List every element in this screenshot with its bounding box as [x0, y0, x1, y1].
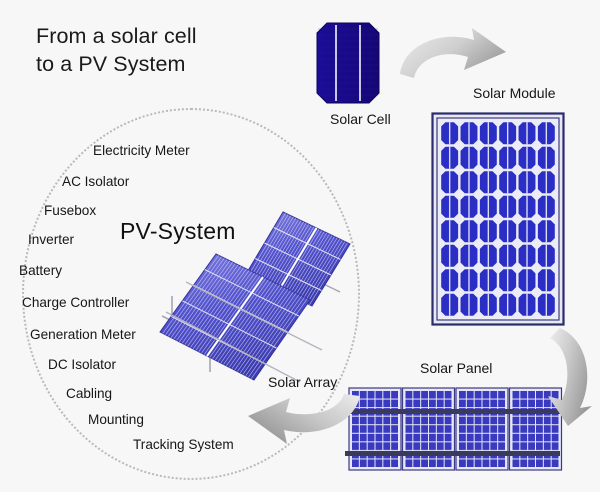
- panel-cell: [368, 425, 375, 433]
- panel-cell: [391, 391, 398, 399]
- panel-cell: [459, 400, 466, 408]
- panel-cell: [475, 417, 482, 425]
- panel-cell: [490, 400, 497, 408]
- panel-cell: [406, 434, 413, 442]
- panel-cell: [376, 391, 383, 399]
- panel-cell: [467, 391, 474, 399]
- panel-cell: [368, 459, 375, 467]
- panel-cell: [536, 442, 543, 450]
- panel-cell: [391, 425, 398, 433]
- panel-cell: [383, 459, 390, 467]
- panel-cell: [421, 391, 428, 399]
- panel-cell: [467, 434, 474, 442]
- panel-cell: [383, 425, 390, 433]
- panel-cell: [475, 459, 482, 467]
- panel-cell: [406, 442, 413, 450]
- panel-cell: [437, 400, 444, 408]
- panel-cell: [413, 417, 420, 425]
- panel-cell: [445, 442, 452, 450]
- panel-cell: [475, 400, 482, 408]
- panel-cell: [498, 442, 505, 450]
- panel-cell: [383, 400, 390, 408]
- panel-cell: [376, 417, 383, 425]
- panel-cell: [429, 417, 436, 425]
- pv-component-label: Inverter: [28, 232, 74, 247]
- panel-cell: [475, 391, 482, 399]
- panel-cell: [383, 442, 390, 450]
- panel-cell: [552, 434, 559, 442]
- panel-cell: [490, 417, 497, 425]
- pv-component-label: Electricity Meter: [93, 143, 190, 158]
- panel-cell: [406, 391, 413, 399]
- panel-cell: [498, 400, 505, 408]
- panel-cell: [429, 442, 436, 450]
- pv-component-label: Tracking System: [133, 437, 234, 452]
- panel-cell: [513, 434, 520, 442]
- panel-cell: [406, 425, 413, 433]
- panel-cell: [483, 391, 490, 399]
- pv-component-label: Generation Meter: [30, 327, 136, 342]
- panel-cell: [483, 434, 490, 442]
- panel-cell: [498, 459, 505, 467]
- panel-cell: [437, 459, 444, 467]
- panel-cell: [421, 434, 428, 442]
- panel-cell: [520, 434, 527, 442]
- panel-cell: [376, 442, 383, 450]
- panel-cell: [383, 417, 390, 425]
- panel-cell: [429, 434, 436, 442]
- panel-cell: [437, 434, 444, 442]
- panel-cell: [421, 400, 428, 408]
- panel-cell: [376, 425, 383, 433]
- panel-cell: [413, 425, 420, 433]
- panel-cell: [421, 425, 428, 433]
- panel-cell: [544, 442, 551, 450]
- panel-cell: [459, 417, 466, 425]
- panel-cell: [467, 417, 474, 425]
- panel-cell: [513, 425, 520, 433]
- panel-cell: [368, 391, 375, 399]
- panel-cell: [368, 417, 375, 425]
- panel-cell: [544, 459, 551, 467]
- panel-cell: [429, 391, 436, 399]
- panel-cell: [445, 400, 452, 408]
- arrow-module-to-panel-icon: [524, 326, 594, 428]
- panel-cell: [467, 442, 474, 450]
- panel-cell: [467, 425, 474, 433]
- panel-cell: [475, 442, 482, 450]
- panel-cell: [352, 459, 359, 467]
- panel-cell: [445, 459, 452, 467]
- panel-cell: [445, 434, 452, 442]
- panel-cell: [490, 391, 497, 399]
- panel-cell: [413, 391, 420, 399]
- panel-cell: [383, 391, 390, 399]
- panel-cell: [413, 400, 420, 408]
- solar-array-graphic: [150, 196, 350, 386]
- panel-cell: [475, 425, 482, 433]
- panel-cell: [490, 434, 497, 442]
- panel-cell: [490, 442, 497, 450]
- panel-cell: [360, 459, 367, 467]
- panel-cell: [498, 417, 505, 425]
- panel-cell: [513, 400, 520, 408]
- panel-cell: [520, 459, 527, 467]
- panel-cell: [459, 425, 466, 433]
- panel-cell: [536, 434, 543, 442]
- panel-cell: [413, 442, 420, 450]
- arrow-panel-to-array-icon: [246, 386, 362, 446]
- panel-cell: [498, 434, 505, 442]
- panel-cell: [467, 400, 474, 408]
- panel-cell: [498, 425, 505, 433]
- panel-cell: [552, 459, 559, 467]
- panel-cell: [445, 425, 452, 433]
- panel-cell: [513, 442, 520, 450]
- panel-cell: [513, 459, 520, 467]
- panel-cell: [368, 434, 375, 442]
- panel-cell: [445, 391, 452, 399]
- panel-cell: [413, 459, 420, 467]
- title-line-2: to a PV System: [36, 50, 296, 78]
- panel-cell: [437, 425, 444, 433]
- panel-cell: [528, 442, 535, 450]
- panel-cell: [483, 442, 490, 450]
- panel-cell: [445, 417, 452, 425]
- panel-cell: [391, 442, 398, 450]
- panel-cell: [391, 400, 398, 408]
- panel-cell: [421, 442, 428, 450]
- panel-cell: [429, 459, 436, 467]
- panel-cell: [520, 442, 527, 450]
- panel-cell: [513, 417, 520, 425]
- panel-cell: [383, 434, 390, 442]
- panel-cell: [459, 442, 466, 450]
- pv-component-label: AC Isolator: [62, 174, 129, 189]
- panel-cell: [413, 434, 420, 442]
- panel-cell: [483, 459, 490, 467]
- panel-cell: [406, 417, 413, 425]
- panel-cell: [429, 425, 436, 433]
- panel-cell: [498, 391, 505, 399]
- panel-cell: [544, 434, 551, 442]
- panel-cell: [368, 400, 375, 408]
- panel-cell: [513, 391, 520, 399]
- pv-component-label: Cabling: [66, 386, 112, 401]
- panel-cell: [421, 417, 428, 425]
- pv-component-label: Battery: [19, 263, 62, 278]
- panel-cell: [475, 434, 482, 442]
- panel-cell: [459, 459, 466, 467]
- panel-cell: [376, 400, 383, 408]
- panel-cell: [376, 434, 383, 442]
- panel-cell: [391, 434, 398, 442]
- panel-cell: [429, 400, 436, 408]
- panel-cell: [483, 425, 490, 433]
- solar-panel-caption: Solar Panel: [420, 360, 492, 376]
- panel-cell: [490, 425, 497, 433]
- title-line-1: From a solar cell: [36, 22, 296, 50]
- panel-cell: [467, 459, 474, 467]
- solar-module-graphic: [432, 113, 564, 325]
- panel-cell: [406, 459, 413, 467]
- panel-cell: [528, 434, 535, 442]
- panel-cell: [391, 417, 398, 425]
- panel-cell: [459, 391, 466, 399]
- panel-cell: [490, 459, 497, 467]
- panel-cell: [552, 442, 559, 450]
- panel-cell: [437, 417, 444, 425]
- panel-cell: [368, 442, 375, 450]
- panel-cell: [437, 442, 444, 450]
- panel-cell: [536, 459, 543, 467]
- solar-cell-graphic: [316, 22, 380, 104]
- panel-cell: [406, 400, 413, 408]
- diagram-canvas: From a solar cell to a PV System PV-Syst…: [0, 0, 600, 492]
- panel-cell: [376, 459, 383, 467]
- panel-cell: [483, 400, 490, 408]
- panel-cell: [459, 434, 466, 442]
- page-title: From a solar cell to a PV System: [36, 22, 296, 79]
- pv-component-label: Fusebox: [44, 203, 96, 218]
- solar-cell-caption: Solar Cell: [330, 111, 391, 127]
- panel-cell: [528, 459, 535, 467]
- panel-cell: [437, 391, 444, 399]
- arrow-cell-to-module-icon: [398, 26, 510, 96]
- pv-component-label: DC Isolator: [48, 357, 116, 372]
- panel-cell: [421, 459, 428, 467]
- panel-cell: [483, 417, 490, 425]
- pv-component-label: Mounting: [88, 412, 144, 427]
- pv-component-label: Charge Controller: [22, 295, 129, 310]
- panel-cell: [391, 459, 398, 467]
